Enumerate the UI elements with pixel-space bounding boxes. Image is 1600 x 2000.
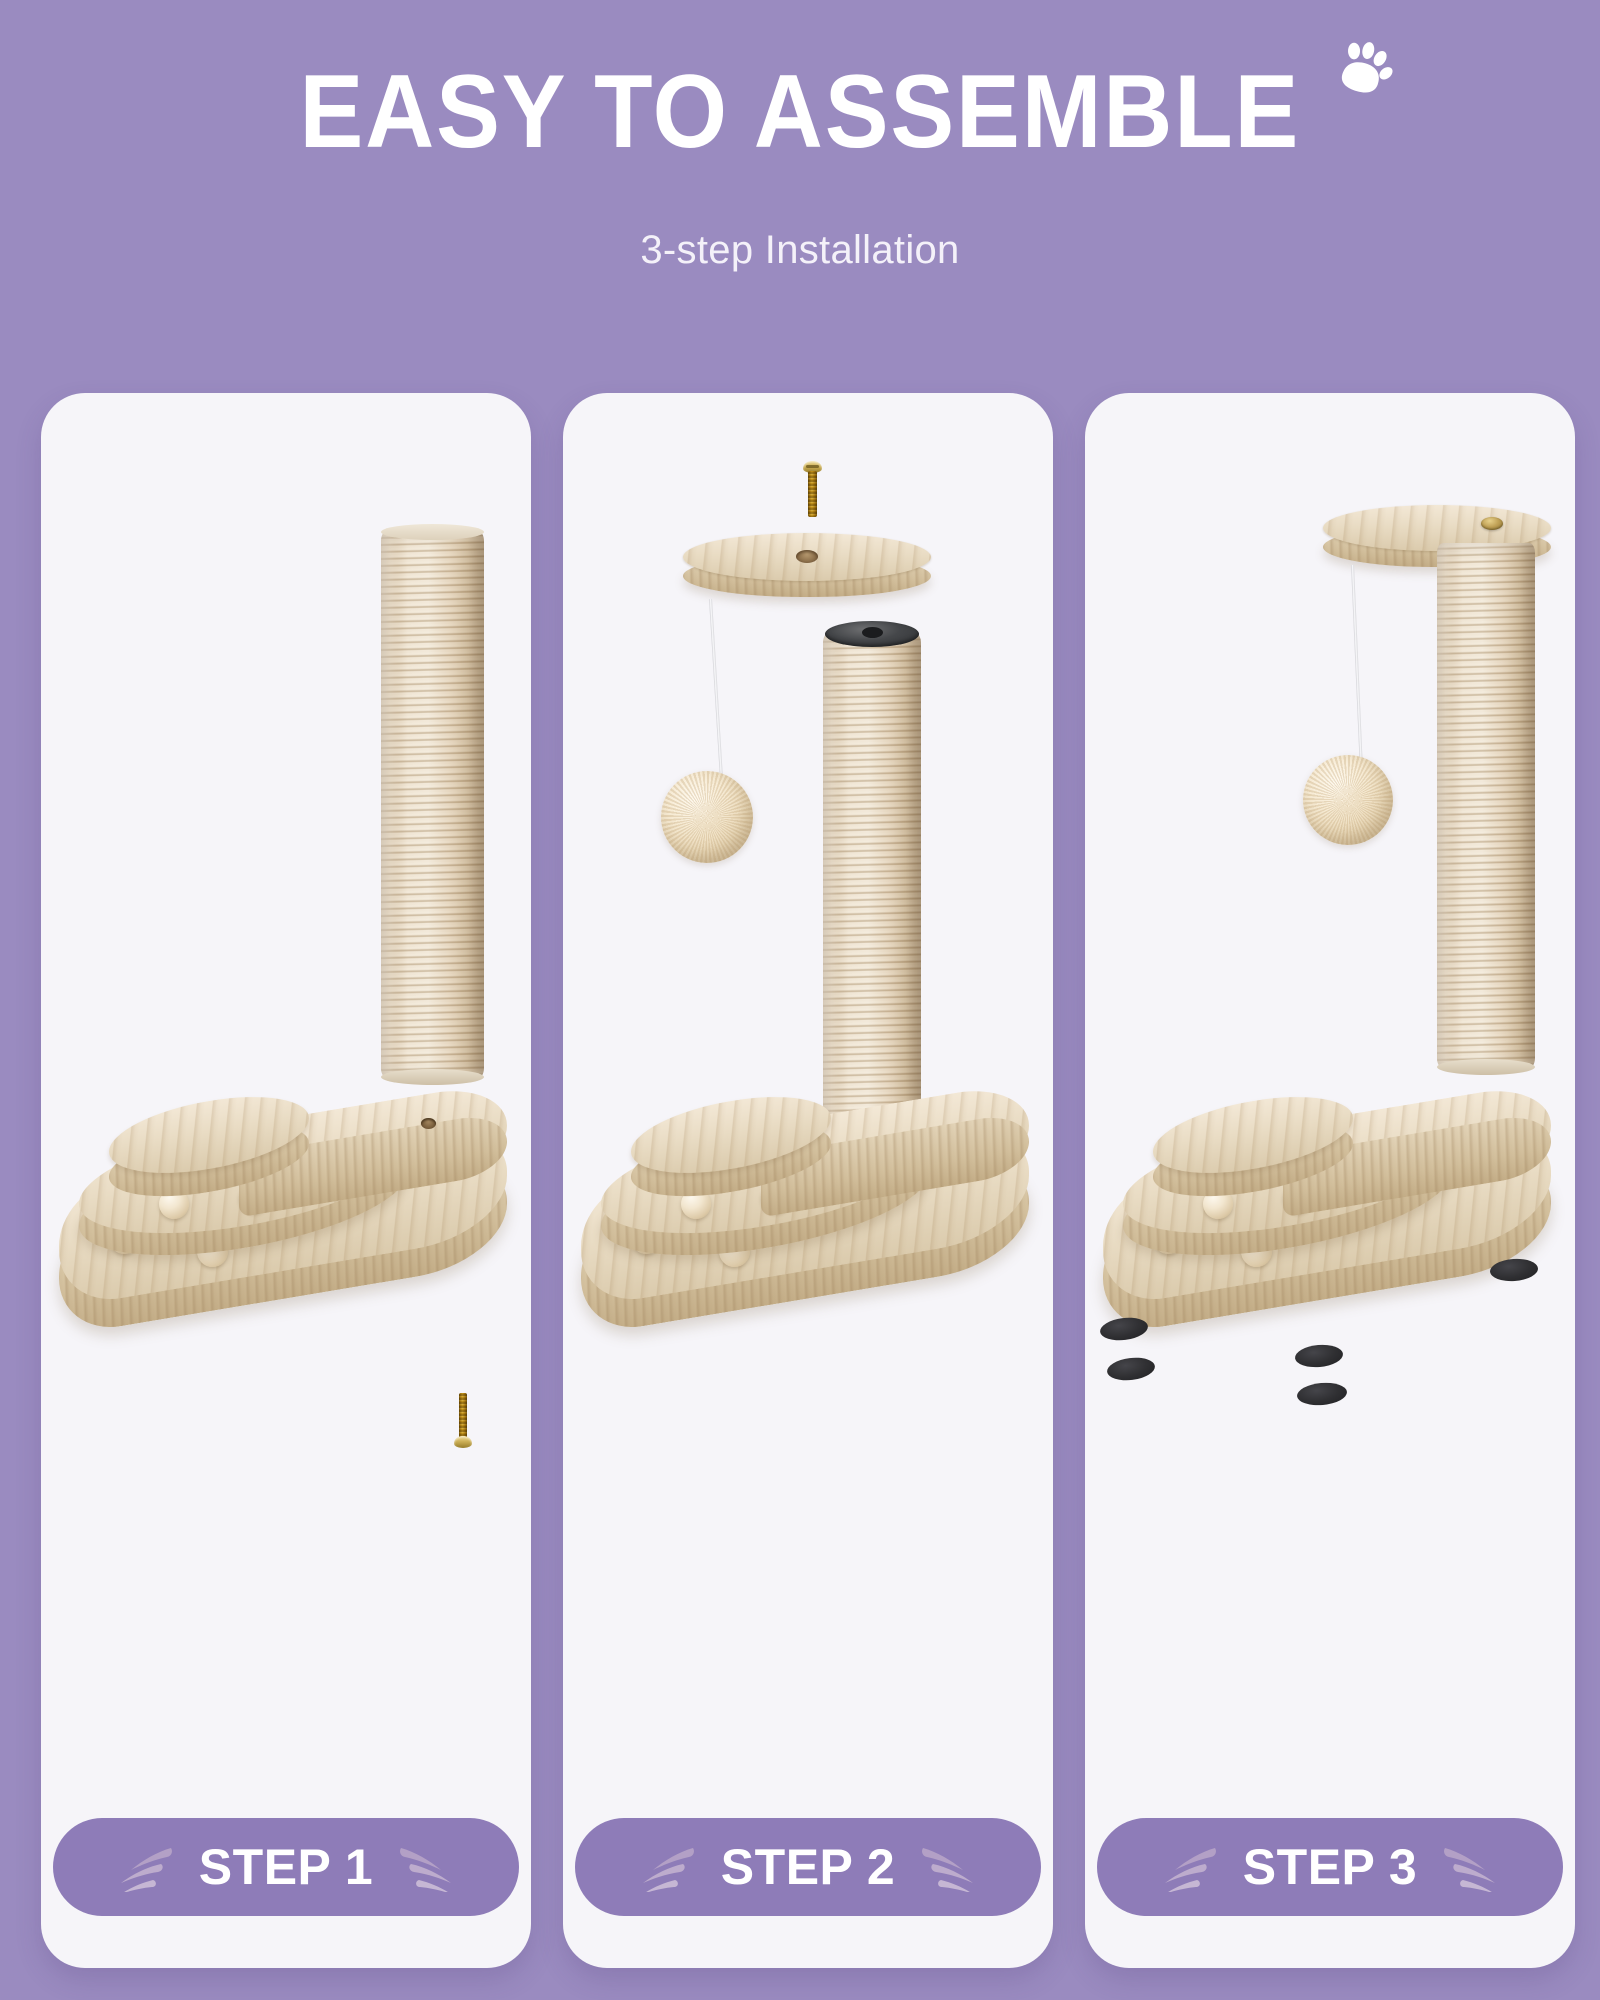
- sisal-post: [1437, 543, 1535, 1068]
- post-bottom-edge: [381, 1069, 484, 1085]
- step-badge-1: STEP 1: [53, 1818, 519, 1916]
- screw-shaft: [808, 471, 817, 517]
- step-card-1: STEP 1 Use the Screw to Connect the Post…: [41, 393, 531, 1968]
- top-plate-screw-head: [1481, 517, 1503, 530]
- step-badge-3: STEP 3: [1097, 1818, 1563, 1916]
- sisal-post: [823, 633, 921, 1133]
- pompom-ball: [661, 771, 753, 863]
- brass-screw: [450, 1393, 476, 1453]
- step-2-product-photo: [563, 393, 1053, 1783]
- swoosh-decoration-icon: [1153, 1844, 1223, 1892]
- screw-head-slot: [806, 465, 819, 468]
- screw-shaft: [459, 1393, 467, 1439]
- wooden-top-plate: [683, 533, 943, 605]
- post-bottom-edge: [1437, 1059, 1535, 1075]
- screw-head: [454, 1436, 472, 1448]
- step-badge-label: STEP 2: [721, 1838, 895, 1896]
- step-3-product-photo: [1085, 393, 1575, 1783]
- pompom-ball: [1303, 755, 1393, 845]
- step-badge-label: STEP 1: [199, 1838, 373, 1896]
- step-card-3: STEP 3 Fix the 5 Foam Pads on the Bottom…: [1085, 393, 1575, 1968]
- toy-string: [1351, 565, 1362, 770]
- top-plate-screw-hole: [796, 550, 818, 563]
- post-cap-screw-hole: [862, 627, 883, 638]
- step-1-product-photo: [41, 393, 531, 1783]
- page-title: EASY TO ASSEMBLE: [300, 58, 1301, 167]
- toy-string: [709, 599, 723, 784]
- brass-screw: [800, 461, 826, 523]
- wooden-track-base: [571, 1093, 1041, 1393]
- header: EASY TO ASSEMBLE 3-step Installation: [0, 0, 1600, 330]
- swoosh-decoration-icon: [1437, 1844, 1507, 1892]
- swoosh-decoration-icon: [109, 1844, 179, 1892]
- sisal-post: [381, 531, 484, 1078]
- wooden-track-base: [49, 1093, 519, 1393]
- swoosh-decoration-icon: [915, 1844, 985, 1892]
- swoosh-decoration-icon: [393, 1844, 463, 1892]
- page-subtitle: 3-step Installation: [0, 228, 1600, 273]
- swoosh-decoration-icon: [631, 1844, 701, 1892]
- step-badge-2: STEP 2: [575, 1818, 1041, 1916]
- step-card-2: STEP 2 Rotate the Wooden Top into the Po…: [563, 393, 1053, 1968]
- base-screw-hole: [421, 1118, 436, 1129]
- step-badge-label: STEP 3: [1243, 1838, 1417, 1896]
- infographic-page: EASY TO ASSEMBLE 3-step Installation: [0, 0, 1600, 2000]
- post-top-edge: [381, 524, 484, 540]
